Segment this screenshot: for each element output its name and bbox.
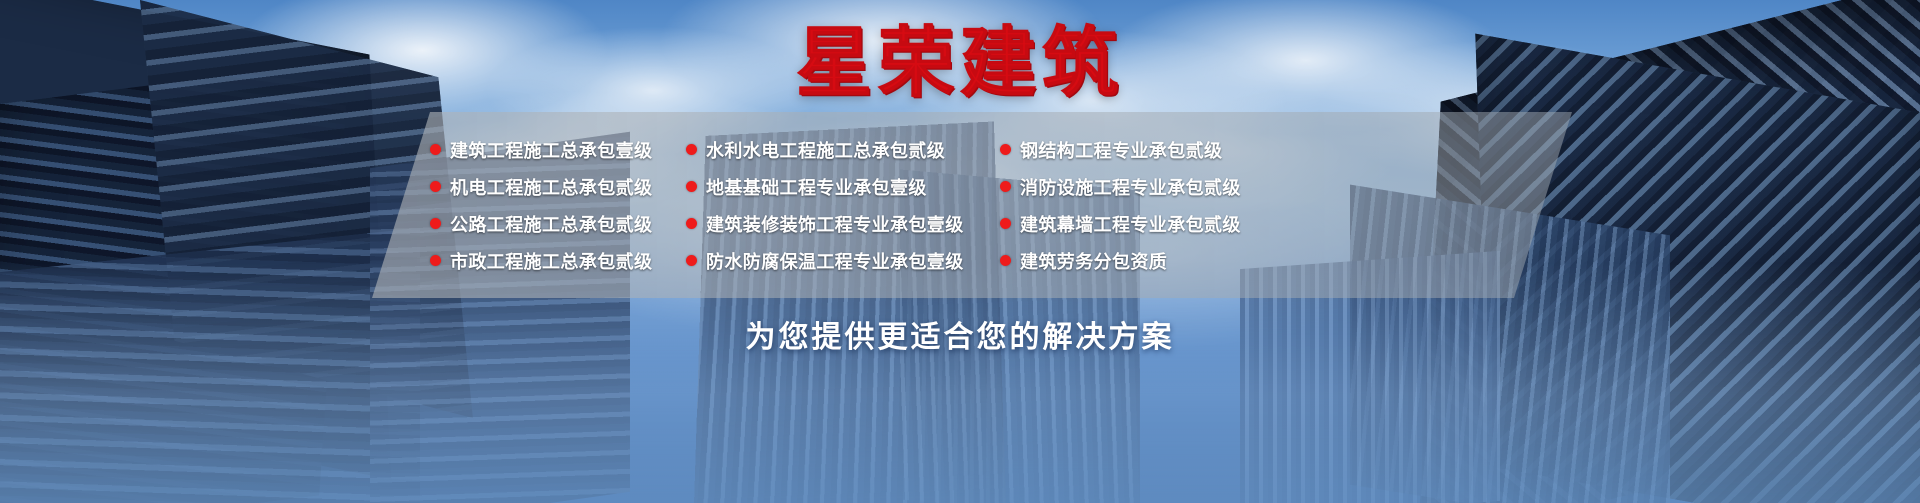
list-item: 建筑幕墙工程专业承包贰级	[1000, 211, 1572, 237]
qualifications-column-2: 水利水电工程施工总承包贰级 地基基础工程专业承包壹级 建筑装修装饰工程专业承包壹…	[686, 137, 976, 274]
qualifications-list: 建筑工程施工总承包壹级 机电工程施工总承包贰级 公路工程施工总承包贰级 市政工程…	[372, 112, 1572, 298]
bullet-dot-icon	[430, 144, 441, 155]
bullet-dot-icon	[430, 181, 441, 192]
list-item: 建筑工程施工总承包壹级	[430, 137, 662, 163]
qualification-label: 水利水电工程施工总承包贰级	[706, 137, 945, 163]
banner-tagline: 为您提供更适合您的解决方案	[0, 312, 1920, 356]
list-item: 地基基础工程专业承包壹级	[686, 174, 976, 200]
qualification-label: 建筑工程施工总承包壹级	[450, 137, 652, 163]
bullet-dot-icon	[1000, 255, 1011, 266]
list-item: 消防设施工程专业承包贰级	[1000, 174, 1572, 200]
qualification-label: 建筑劳务分包资质	[1020, 248, 1167, 274]
bullet-dot-icon	[1000, 218, 1011, 229]
list-item: 钢结构工程专业承包贰级	[1000, 137, 1572, 163]
qualification-label: 建筑幕墙工程专业承包贰级	[1020, 211, 1241, 237]
list-item: 建筑装修装饰工程专业承包壹级	[686, 211, 976, 237]
qualification-label: 钢结构工程专业承包贰级	[1020, 137, 1222, 163]
bullet-dot-icon	[686, 144, 697, 155]
list-item: 防水防腐保温工程专业承包壹级	[686, 248, 976, 274]
bullet-dot-icon	[1000, 181, 1011, 192]
qualification-label: 机电工程施工总承包贰级	[450, 174, 652, 200]
list-item: 公路工程施工总承包贰级	[430, 211, 662, 237]
list-item: 机电工程施工总承包贰级	[430, 174, 662, 200]
qualification-label: 建筑装修装饰工程专业承包壹级	[706, 211, 964, 237]
bullet-dot-icon	[686, 181, 697, 192]
company-title: 星荣建筑	[0, 26, 1920, 102]
qualification-label: 消防设施工程专业承包贰级	[1020, 174, 1241, 200]
bullet-dot-icon	[686, 218, 697, 229]
qualifications-column-3: 钢结构工程专业承包贰级 消防设施工程专业承包贰级 建筑幕墙工程专业承包贰级 建筑…	[1000, 137, 1572, 274]
list-item: 水利水电工程施工总承包贰级	[686, 137, 976, 163]
list-item: 市政工程施工总承包贰级	[430, 248, 662, 274]
bullet-dot-icon	[430, 255, 441, 266]
company-hero-banner: 星荣建筑 建筑工程施工总承包壹级 机电工程施工总承包贰级 公路工程施工总承包贰级…	[0, 0, 1920, 503]
qualification-label: 地基基础工程专业承包壹级	[706, 174, 927, 200]
qualification-label: 防水防腐保温工程专业承包壹级	[706, 248, 964, 274]
qualifications-column-1: 建筑工程施工总承包壹级 机电工程施工总承包贰级 公路工程施工总承包贰级 市政工程…	[430, 137, 662, 274]
bullet-dot-icon	[430, 218, 441, 229]
bullet-dot-icon	[1000, 144, 1011, 155]
list-item: 建筑劳务分包资质	[1000, 248, 1572, 274]
qualification-label: 公路工程施工总承包贰级	[450, 211, 652, 237]
qualification-label: 市政工程施工总承包贰级	[450, 248, 652, 274]
bullet-dot-icon	[686, 255, 697, 266]
